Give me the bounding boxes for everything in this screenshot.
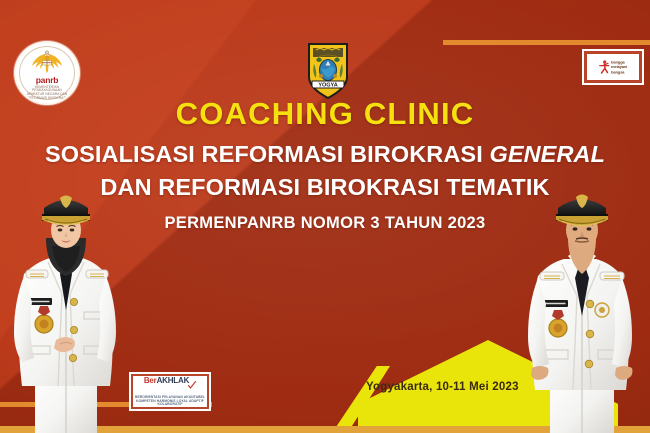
official-male-right [516,190,648,433]
berakhlak-prefix: Ber [144,376,157,385]
accent-rule-top-right [446,40,650,45]
berakhlak-word: AKHLAK [157,376,190,385]
subtitle-line-1: SOSIALISASI REFORMASI BIROKRASI GENERAL [0,140,650,168]
official-female-left [2,190,134,433]
panrb-wordmark: panrb [36,75,59,85]
checkmark-swoosh-icon [188,376,196,394]
panrb-logo: panrb KEMENTERIAN PENDAYAGUNAAN APARATUR… [14,41,80,105]
bangga-melayani-bangsa-logo: bangga melayani bangsa [584,51,642,83]
svg-text:YOGYA: YOGYA [318,83,337,89]
bangga-line3: bangsa [611,70,627,74]
subtitle-line-1-italic: GENERAL [489,141,605,167]
bangga-line2: melayani [611,65,627,69]
garuda-eagle-icon [30,48,64,74]
main-title: COACHING CLINIC [0,98,650,131]
location-date-text: Yogyakarta, 10-11 Mei 2023 [366,381,519,393]
berakhlak-logo: BerAKHLAK BERORIENTASI PELAYANAN AKUNTAB… [131,374,209,409]
subtitle-line-1-normal: SOSIALISASI REFORMASI BIROKRASI [45,141,490,167]
banner-canvas: panrb KEMENTERIAN PENDAYAGUNAAN APARATUR… [0,0,650,433]
running-figure-icon [599,59,609,75]
berakhlak-caption: BERORIENTASI PELAYANAN AKUNTABEL KOMPETE… [134,396,206,408]
bangga-line1: bangga [611,60,627,64]
yogyakarta-crest: YOGYA [306,42,350,100]
